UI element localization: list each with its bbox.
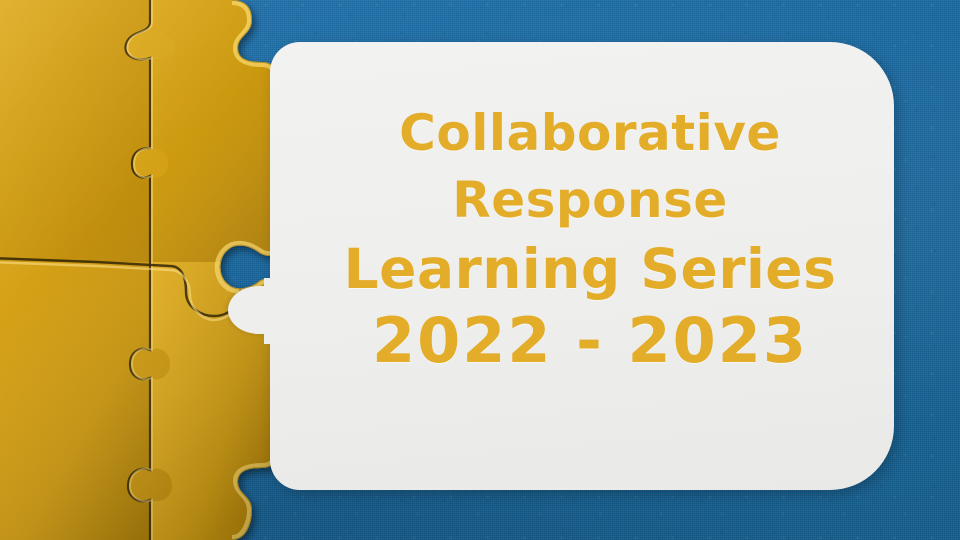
title-line-1: Collaborative xyxy=(300,108,880,158)
panel-puzzle-tab-fill xyxy=(264,278,296,344)
title-line-4: 2022 - 2023 xyxy=(300,310,880,372)
title-line-2: Response xyxy=(300,175,880,225)
title-line-3: Learning Series xyxy=(300,242,880,297)
title-slide: Collaborative Response Learning Series 2… xyxy=(0,0,960,540)
title-block: Collaborative Response Learning Series 2… xyxy=(300,108,880,372)
